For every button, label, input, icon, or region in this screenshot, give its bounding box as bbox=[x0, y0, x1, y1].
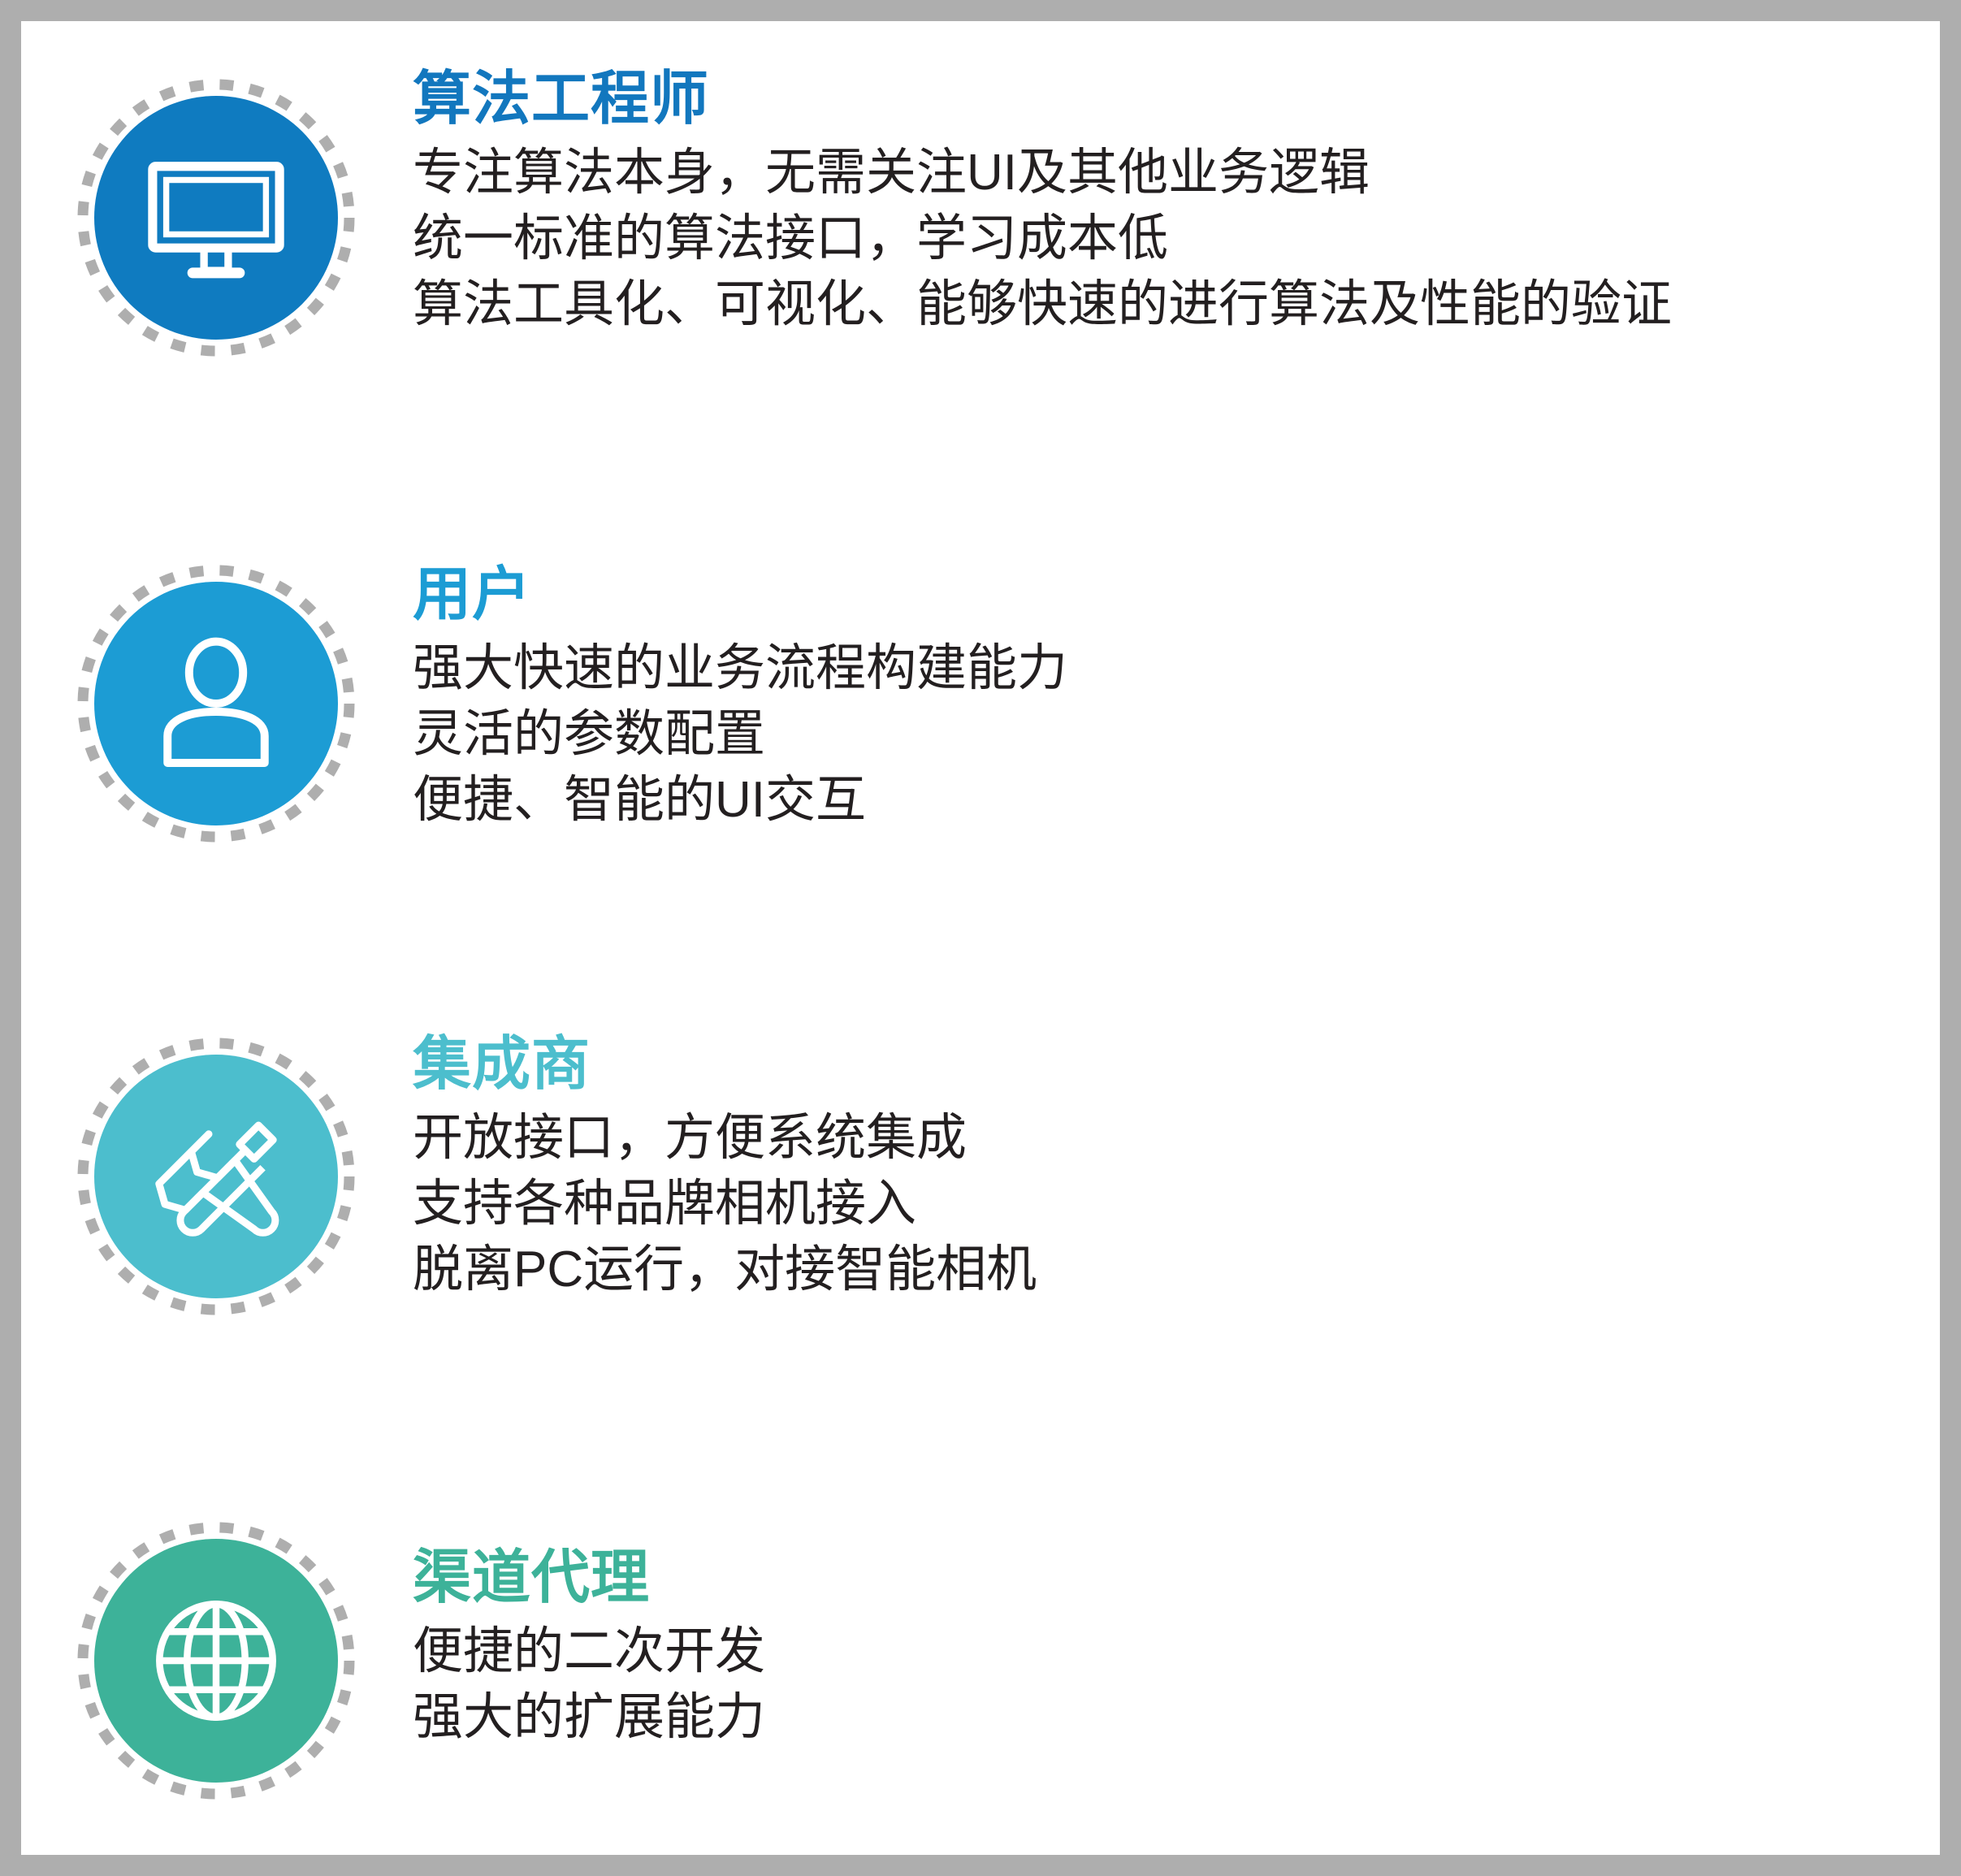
tools-icon bbox=[94, 1055, 338, 1298]
feature-text: 用户 强大快速的业务流程构建能力 灵活的参数配置 便捷、智能的UI交互 bbox=[413, 541, 1067, 836]
feature-row: 渠道代理 便捷的二次开发 强大的扩展能力 bbox=[54, 1498, 765, 1823]
feature-line: 支持各种品牌相机接入 bbox=[413, 1174, 1037, 1233]
feature-line: 开放接口，方便系统集成 bbox=[413, 1108, 1037, 1168]
feature-title: 集成商 bbox=[413, 1035, 1037, 1094]
feature-line-list: 强大快速的业务流程构建能力 灵活的参数配置 便捷、智能的UI交互 bbox=[413, 639, 1067, 830]
feature-line-list: 开放接口，方便系统集成 支持各种品牌相机接入 脱离PC运行，对接智能相机 bbox=[413, 1108, 1037, 1299]
icon-badge-algorithm-engineer bbox=[54, 55, 379, 380]
feature-line: 便捷、智能的UI交互 bbox=[413, 770, 1067, 830]
feature-text: 渠道代理 便捷的二次开发 强大的扩展能力 bbox=[413, 1498, 765, 1753]
feature-text: 集成商 开放接口，方便系统集成 支持各种品牌相机接入 脱离PC运行，对接智能相机 bbox=[413, 1014, 1037, 1306]
user-icon bbox=[94, 582, 338, 825]
feature-line: 算法工具化、可视化、能够快速的进行算法及性能的验证 bbox=[413, 275, 1672, 334]
feature-line-list: 专注算法本身，无需关注UI及其他业务逻辑 统一标准的算法接口，学习成本低 算法工… bbox=[413, 143, 1672, 334]
poster-content: 算法工程师 专注算法本身，无需关注UI及其他业务逻辑 统一标准的算法接口，学习成… bbox=[21, 21, 1940, 1855]
feature-title: 渠道代理 bbox=[413, 1549, 765, 1607]
feature-title: 算法工程师 bbox=[413, 70, 1672, 128]
feature-line: 灵活的参数配置 bbox=[413, 704, 1067, 764]
feature-line: 强大快速的业务流程构建能力 bbox=[413, 639, 1067, 698]
feature-line: 强大的扩展能力 bbox=[413, 1688, 765, 1747]
feature-line: 脱离PC运行，对接智能相机 bbox=[413, 1240, 1037, 1299]
feature-row: 用户 强大快速的业务流程构建能力 灵活的参数配置 便捷、智能的UI交互 bbox=[54, 541, 1067, 866]
icon-badge-user bbox=[54, 541, 379, 866]
globe-icon bbox=[94, 1539, 338, 1783]
feature-row: 集成商 开放接口，方便系统集成 支持各种品牌相机接入 脱离PC运行，对接智能相机 bbox=[54, 1014, 1037, 1339]
feature-line-list: 便捷的二次开发 强大的扩展能力 bbox=[413, 1622, 765, 1747]
icon-badge-integrator bbox=[54, 1014, 379, 1339]
feature-title: 用户 bbox=[413, 565, 1067, 624]
monitor-icon bbox=[94, 96, 338, 340]
feature-line: 便捷的二次开发 bbox=[413, 1622, 765, 1681]
poster-frame: 算法工程师 专注算法本身，无需关注UI及其他业务逻辑 统一标准的算法接口，学习成… bbox=[0, 0, 1961, 1876]
feature-row: 算法工程师 专注算法本身，无需关注UI及其他业务逻辑 统一标准的算法接口，学习成… bbox=[54, 55, 1672, 380]
feature-line: 专注算法本身，无需关注UI及其他业务逻辑 bbox=[413, 143, 1672, 202]
feature-text: 算法工程师 专注算法本身，无需关注UI及其他业务逻辑 统一标准的算法接口，学习成… bbox=[413, 55, 1672, 340]
icon-badge-channel-agent bbox=[54, 1498, 379, 1823]
feature-line: 统一标准的算法接口，学习成本低 bbox=[413, 209, 1672, 268]
